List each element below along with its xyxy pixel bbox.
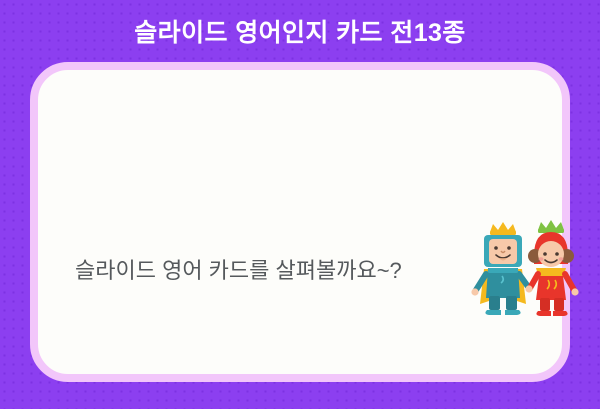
- queen-character: [525, 220, 578, 316]
- queen-right-arm: [565, 274, 574, 290]
- king-left-shoe: [485, 310, 501, 315]
- king-left-hand: [471, 288, 478, 295]
- slide-title-bar: 슬라이드 영어인지 카드 전13종: [0, 18, 600, 48]
- queen-right-hand: [571, 288, 578, 295]
- queen-left-shoe: [536, 311, 551, 316]
- queen-left-arm: [530, 274, 538, 288]
- king-right-leg: [506, 296, 517, 310]
- queen-right-shoe: [553, 311, 568, 316]
- king-left-leg: [489, 296, 500, 310]
- queen-right-leg: [554, 298, 564, 311]
- slide-container: 슬라이드 영어인지 카드 전13종 슬라이드 영어 카드를 살펴볼까요~?: [0, 0, 600, 409]
- content-card: 슬라이드 영어 카드를 살펴볼까요~?: [30, 62, 570, 382]
- king-character: [471, 222, 529, 315]
- queen-dress: [536, 276, 566, 300]
- king-and-queen-illustration: [462, 216, 582, 328]
- queen-left-leg: [540, 298, 550, 311]
- page-title: 슬라이드 영어인지 카드 전13종: [134, 18, 465, 48]
- king-right-shoe: [505, 310, 521, 315]
- card-message-text: 슬라이드 영어 카드를 살펴볼까요~?: [75, 256, 402, 286]
- queen-crown-icon: [538, 220, 564, 230]
- queen-left-hand: [525, 285, 532, 292]
- king-crown-icon: [490, 222, 516, 232]
